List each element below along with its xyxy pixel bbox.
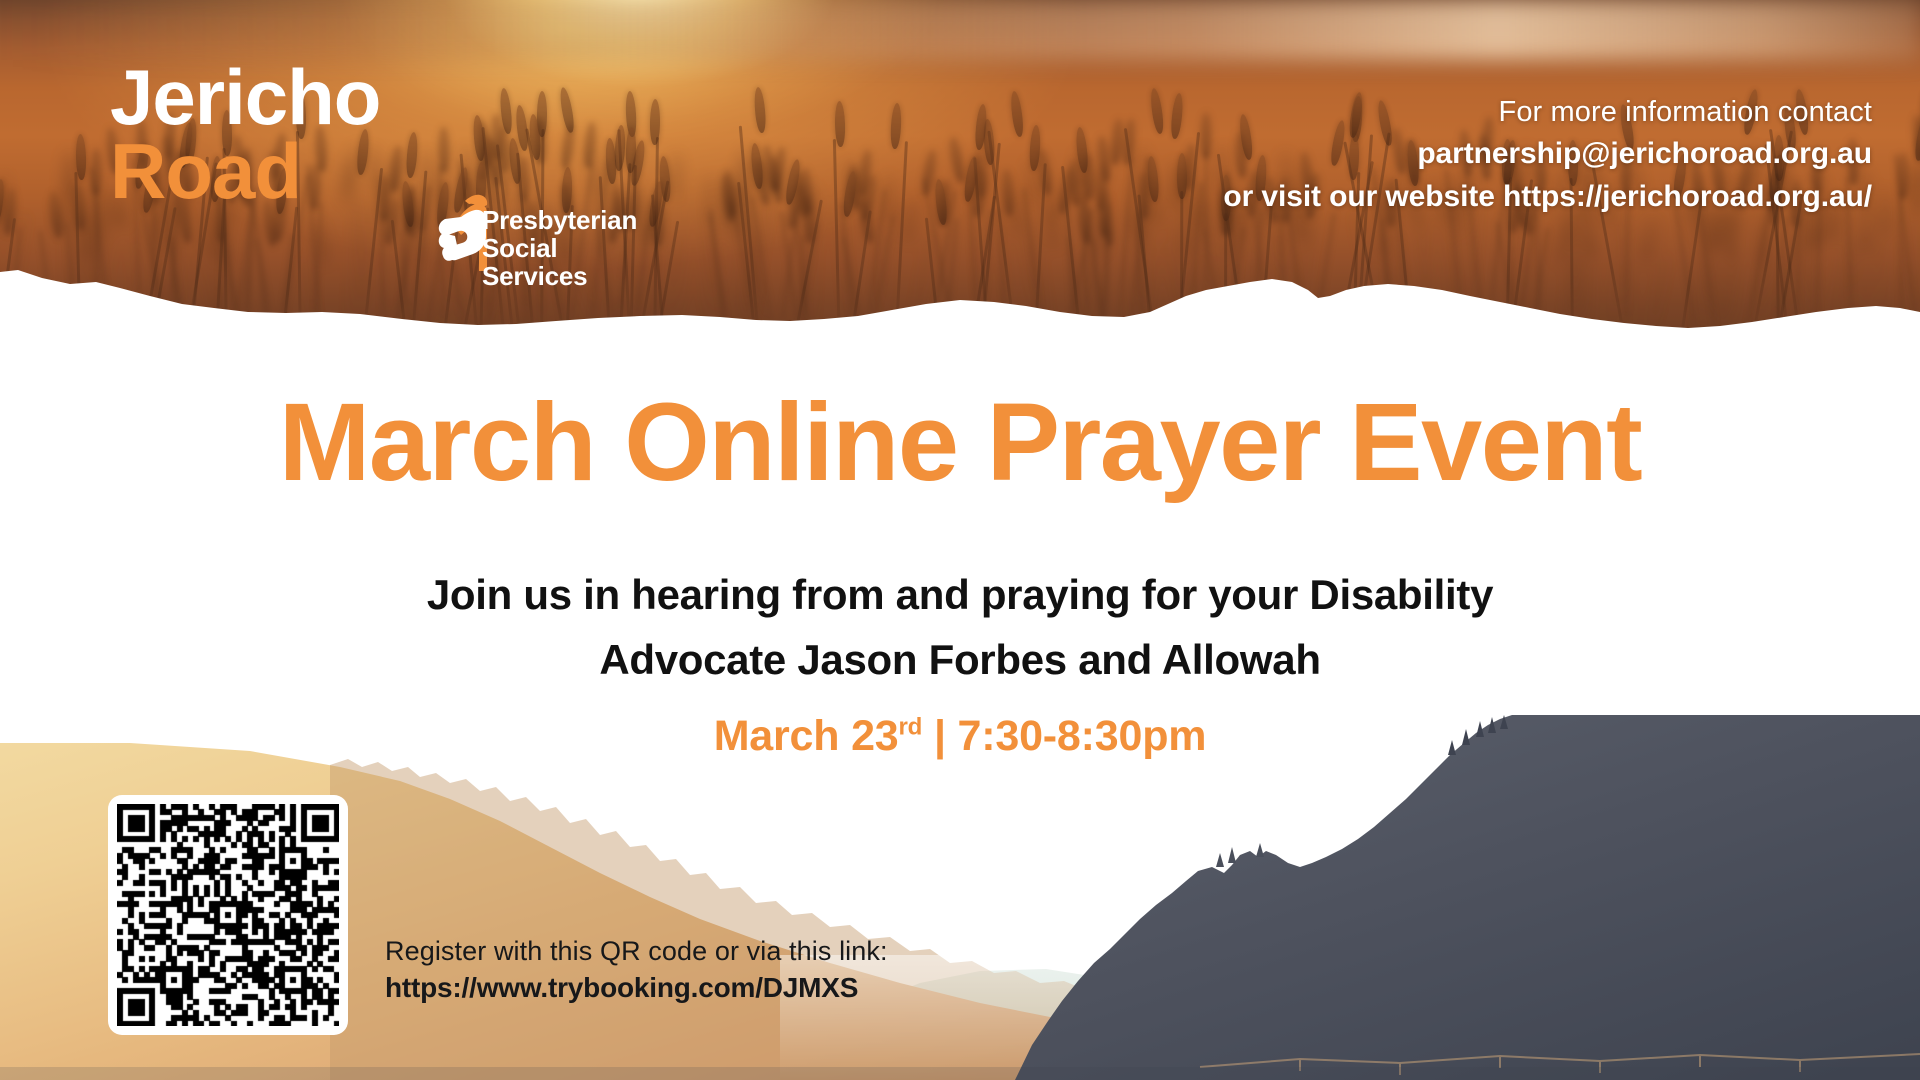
contact-website[interactable]: or visit our website https://jerichoroad… <box>1223 176 1872 219</box>
poster-canvas: Jericho Road Presbyterian Social Service… <box>0 0 1920 1080</box>
logo-word-jericho: Jericho <box>110 58 380 136</box>
registration-block: Register with this QR code or via this l… <box>385 933 888 1007</box>
page-title: March Online Prayer Event <box>0 388 1920 498</box>
logo-tagline-line2: Social <box>482 234 637 262</box>
jericho-road-logo[interactable]: Jericho Road Presbyterian Social Service… <box>110 58 530 228</box>
event-description-line1: Join us in hearing from and praying for … <box>0 562 1920 627</box>
registration-link[interactable]: https://www.trybooking.com/DJMXS <box>385 969 888 1007</box>
contact-info-block: For more information contact partnership… <box>1223 92 1872 218</box>
qr-code-icon[interactable] <box>108 795 348 1035</box>
event-date: March 23 <box>714 712 899 760</box>
registration-prompt: Register with this QR code or via this l… <box>385 933 888 969</box>
event-time: 7:30-8:30pm <box>958 712 1207 760</box>
torn-paper-edge-top <box>0 220 1920 340</box>
datetime-separator: | <box>934 712 946 760</box>
logo-tagline: Presbyterian Social Services <box>482 206 637 290</box>
contact-email[interactable]: partnership@jerichoroad.org.au <box>1223 133 1872 176</box>
event-description: Join us in hearing from and praying for … <box>0 562 1920 692</box>
event-date-ordinal: rd <box>899 714 923 741</box>
event-description-line2: Advocate Jason Forbes and Allowah <box>0 627 1920 692</box>
logo-tagline-line3: Services <box>482 262 637 290</box>
contact-prompt: For more information contact <box>1223 92 1872 133</box>
qr-code-image[interactable] <box>117 804 339 1026</box>
sunset-sky-strip <box>0 0 1920 60</box>
header-hero-banner: Jericho Road Presbyterian Social Service… <box>0 0 1920 340</box>
logo-tagline-line1: Presbyterian <box>482 206 637 234</box>
logo-word-road: Road <box>110 132 301 210</box>
event-datetime: March 23rd | 7:30-8:30pm <box>0 712 1920 761</box>
